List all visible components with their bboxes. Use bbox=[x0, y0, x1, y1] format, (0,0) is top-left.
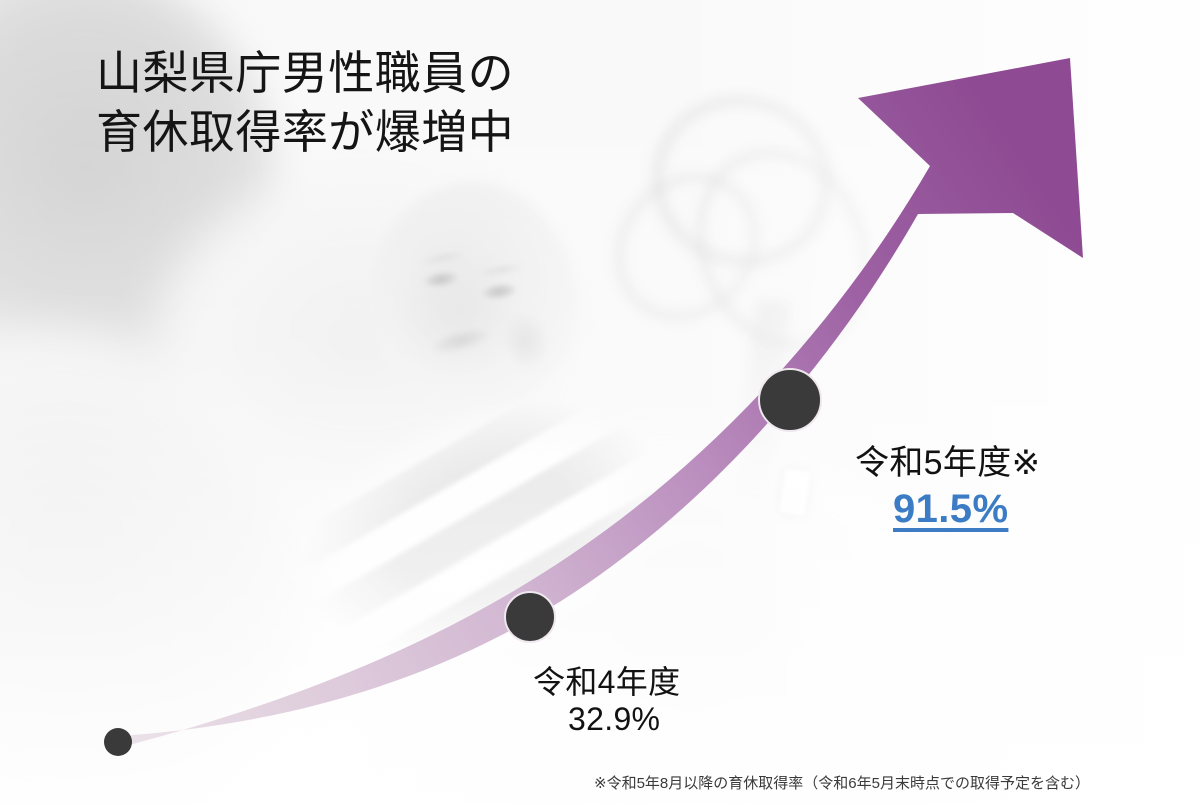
marker-dot-r4 bbox=[505, 592, 555, 642]
marker-dot-r5 bbox=[759, 369, 821, 431]
value-reiwa5: 91.5% bbox=[893, 487, 1008, 531]
page-title: 山梨県庁男性職員の 育休取得率が爆増中 bbox=[96, 44, 514, 162]
label-reiwa5: 令和5年度※ bbox=[855, 443, 1040, 483]
footnote-text: ※令和5年8月以降の育休取得率（令和6年5月末時点での取得予定を含む） bbox=[594, 772, 1090, 793]
label-reiwa4: 令和4年度 bbox=[533, 664, 680, 702]
value-reiwa4: 32.9% bbox=[568, 702, 660, 737]
marker-dot-start bbox=[104, 728, 132, 756]
infographic-canvas: 山梨県庁男性職員の 育休取得率が爆増中 令和5年度※ 91.5% 令和4年度 3… bbox=[0, 0, 1200, 804]
